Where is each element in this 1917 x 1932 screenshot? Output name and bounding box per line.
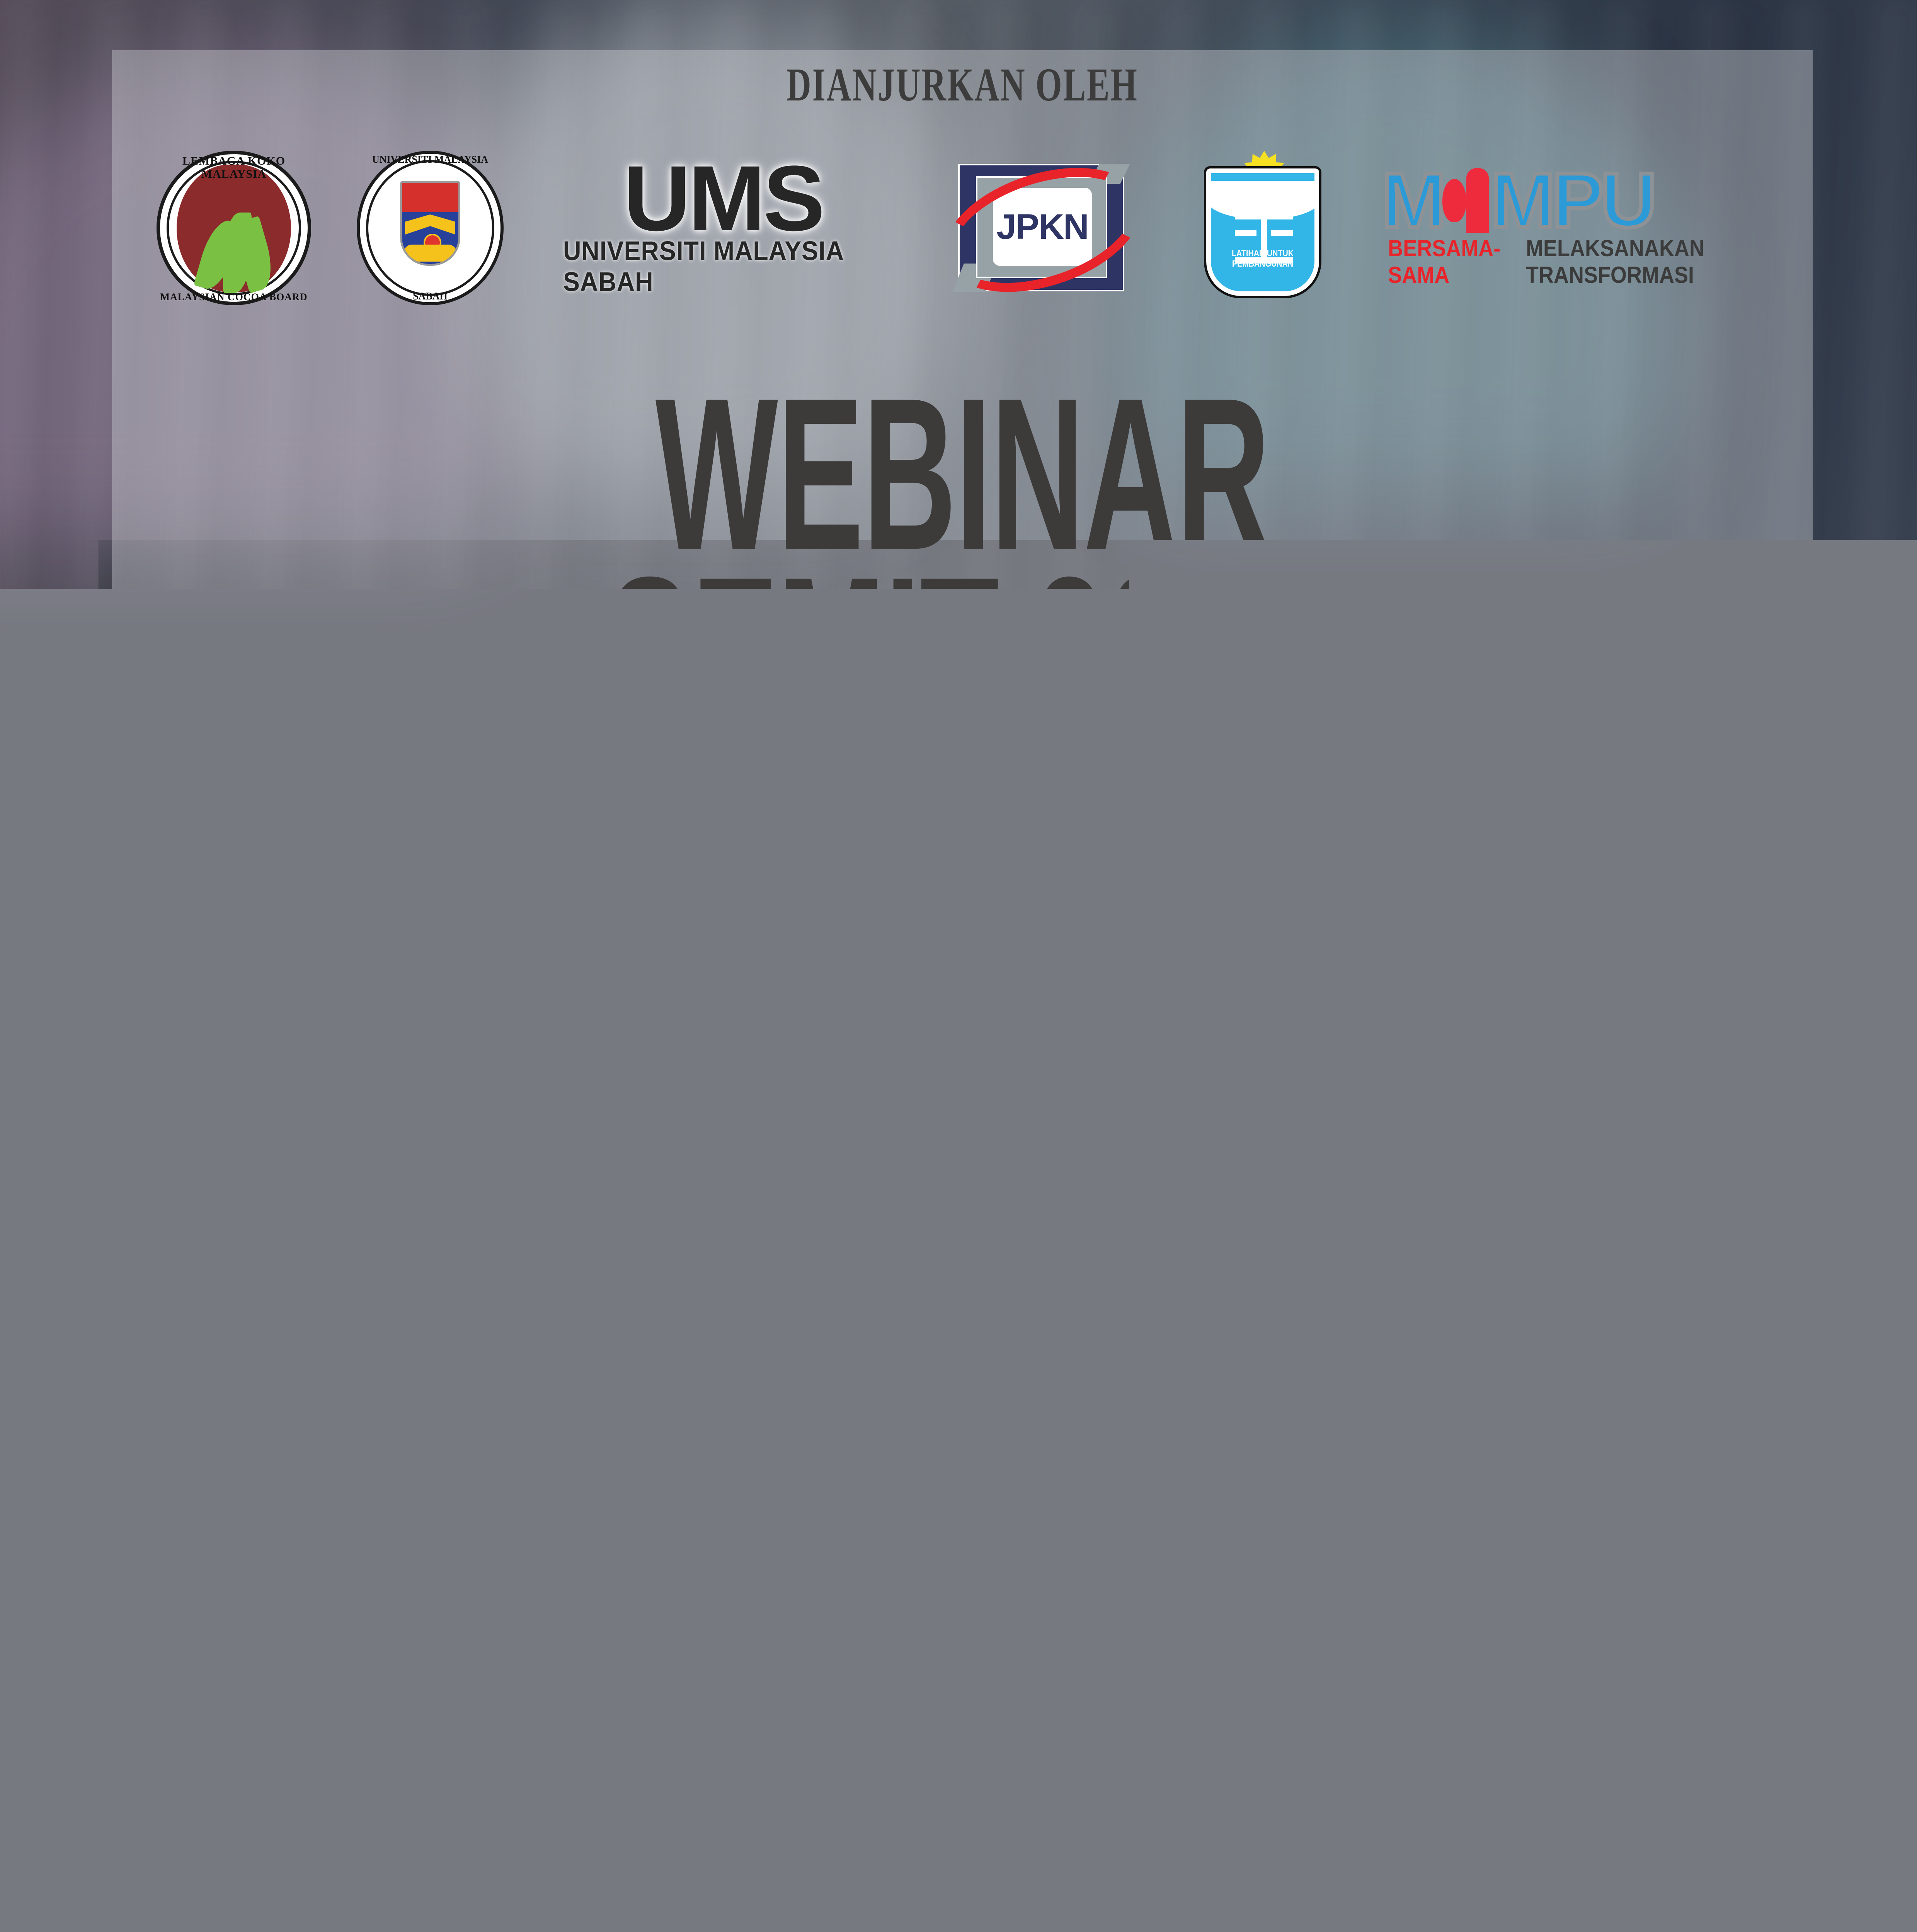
lembaga-koko-malaysia-logo: LEMBAGA KOKO MALAYSIA MALAYSIAN COCOA BO…	[157, 151, 311, 305]
organiser-header: DIANJURKAN OLEH	[112, 58, 1813, 112]
ums-seal-arc-bottom: SABAH	[357, 291, 504, 302]
poster-canvas: DIANJURKAN OLEH LEMBAGA KOKO MALAYSIA MA…	[0, 0, 1917, 1932]
jpkn-logo: JPKN	[943, 158, 1144, 298]
mampu-acronym-part2: MPU	[1491, 168, 1653, 233]
event-headline-block: WEBINAR SEMIT 2021 22 JULAI 2021 (KHAMIS…	[112, 379, 1813, 962]
ilp-motto: LATIHAN UNTUK PEMBANGUNAN	[1218, 248, 1307, 269]
mampu-bar-icon	[1466, 168, 1489, 233]
event-theme-block: ERA PANDEMIC : PENDIGITALAN PERKHDIMATAN…	[112, 1066, 1813, 1932]
ums-acronym: UMS	[623, 159, 822, 238]
globe-icon	[1442, 179, 1466, 222]
lkm-arc-top-text: LEMBAGA KOKO MALAYSIA	[157, 155, 311, 181]
mampu-acronym-part1: M	[1382, 168, 1443, 233]
organiser-logo-row: LEMBAGA KOKO MALAYSIA MALAYSIAN COCOA BO…	[112, 143, 1813, 313]
theme-line-4: DALAM NORMA BAHARU	[469, 1668, 1456, 1932]
mampu-logo: M MPU BERSAMA-SAMA MELAKSANAKAN TRANSFOR…	[1382, 168, 1768, 288]
ums-subtitle: UNIVERSITI MALAYSIA SABAH	[563, 235, 883, 297]
event-date: 22 JULAI 2021 (KHAMIS)	[401, 756, 1524, 864]
ums-seal-arc-top: UNIVERSITI MALAYSIA	[357, 154, 504, 165]
theme-line-3: PERKHDIMATAN AWAM	[469, 1362, 1456, 1678]
ums-seal-logo: UNIVERSITI MALAYSIA SABAH	[357, 151, 504, 305]
latihan-untuk-pembangunan-logo: LATIHAN UNTUK PEMBANGUNAN	[1189, 151, 1336, 305]
event-time: 9.00 PAGI - 1.00 TENGAH HARI	[401, 866, 1524, 962]
ums-wordmark-logo: UMS UNIVERSITI MALAYSIA SABAH	[549, 159, 897, 297]
organiser-label: DIANJURKAN OLEH	[350, 58, 1575, 112]
mampu-tagline-red: BERSAMA-SAMA	[1388, 235, 1501, 288]
mampu-tagline-dark: MELAKSANAKAN TRANSFORMASI	[1526, 235, 1755, 288]
event-title-line2: SEMIT 2021	[452, 558, 1473, 748]
lkm-arc-bottom-text: MALAYSIAN COCOA BOARD	[157, 291, 311, 303]
